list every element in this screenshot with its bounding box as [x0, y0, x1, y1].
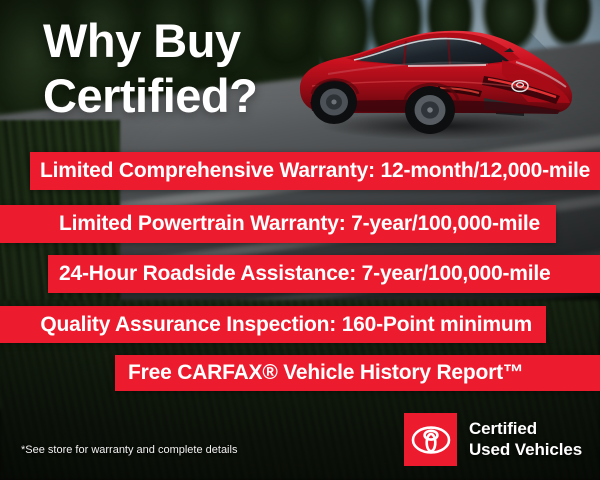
benefit-list: Limited Comprehensive Warranty: 12-month… — [0, 0, 600, 480]
benefit-text-5: Free CARFAX® Vehicle History Report™ — [115, 361, 524, 385]
benefit-bar-5: Free CARFAX® Vehicle History Report™ — [115, 355, 600, 391]
brand-lockup: Certified Used Vehicles — [404, 413, 582, 466]
benefit-text-1: Limited Comprehensive Warranty: 12-month… — [30, 159, 590, 183]
brand-line-1: Certified — [469, 419, 582, 440]
benefit-bar-4: Quality Assurance Inspection: 160-Point … — [0, 306, 546, 343]
certified-vehicle-ad: Why Buy Certified? Limited Comprehensive… — [0, 0, 600, 480]
brand-line-2: Used Vehicles — [469, 440, 582, 461]
toyota-logo-icon — [404, 413, 457, 466]
benefit-text-2: Limited Powertrain Warranty: 7-year/100,… — [59, 212, 556, 236]
benefit-text-4: Quality Assurance Inspection: 160-Point … — [40, 313, 546, 337]
benefit-text-3: 24-Hour Roadside Assistance: 7-year/100,… — [48, 262, 551, 286]
benefit-bar-2: Limited Powertrain Warranty: 7-year/100,… — [0, 205, 556, 243]
brand-name: Certified Used Vehicles — [469, 419, 582, 460]
benefit-bar-1: Limited Comprehensive Warranty: 12-month… — [30, 152, 600, 190]
benefit-bar-3: 24-Hour Roadside Assistance: 7-year/100,… — [48, 255, 600, 293]
disclaimer-text: *See store for warranty and complete det… — [21, 444, 237, 456]
